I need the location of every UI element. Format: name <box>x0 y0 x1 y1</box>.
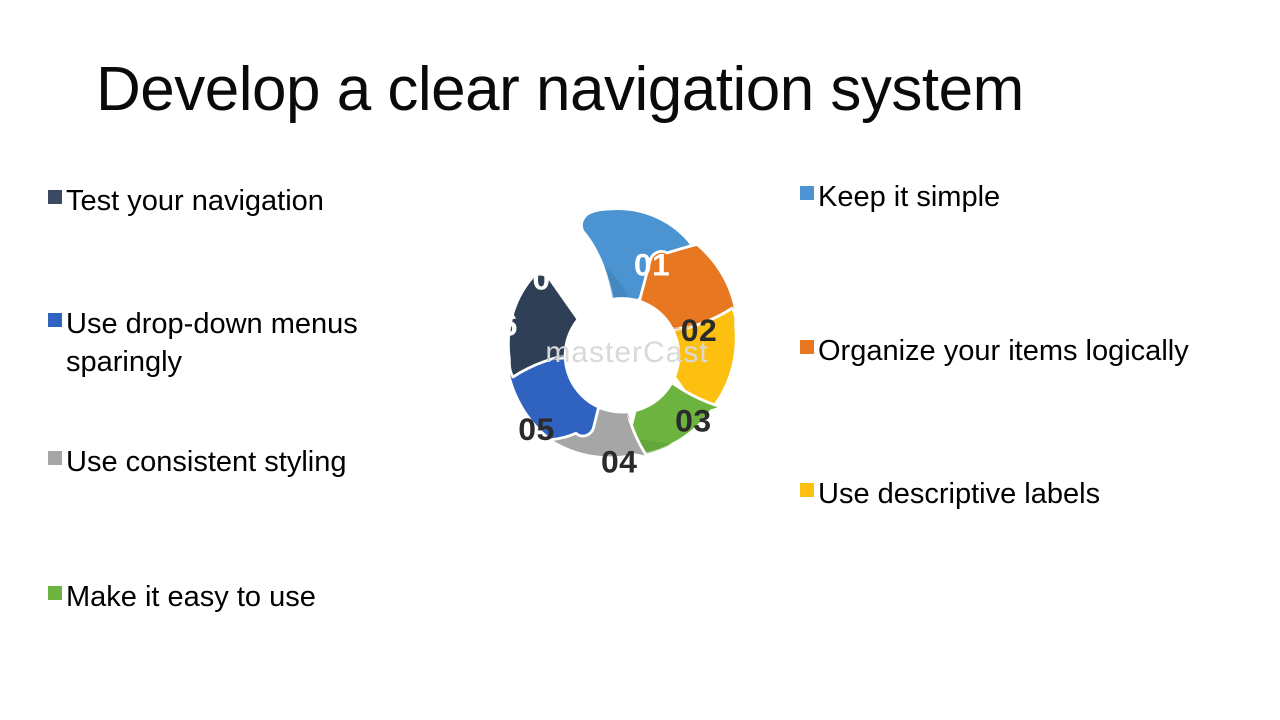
list-item-label: Use drop-down menus sparingly <box>66 305 446 381</box>
petal-number-07: 07 <box>532 261 568 297</box>
list-item[interactable]: Organize your items logically <box>800 332 1189 370</box>
list-item[interactable]: Test your navigation <box>48 182 324 220</box>
pinwheel-diagram: 01020304050607 <box>447 190 797 530</box>
slide-canvas: Develop a clear navigation system Test y… <box>0 0 1280 720</box>
petal-number-06: 06 <box>482 307 518 343</box>
list-item[interactable]: Keep it simple <box>800 178 1000 216</box>
list-item[interactable]: Make it easy to use <box>48 578 316 616</box>
list-item-label: Test your navigation <box>66 182 324 220</box>
list-item-label: Make it easy to use <box>66 578 316 616</box>
petal-number-03: 03 <box>675 402 711 438</box>
bullet-square-icon <box>800 186 814 200</box>
pinwheel-svg: 01020304050607 <box>447 190 797 530</box>
bullet-square-icon <box>48 313 62 327</box>
bullet-square-icon <box>48 451 62 465</box>
bullet-square-icon <box>48 190 62 204</box>
bullet-square-icon <box>800 340 814 354</box>
petal-number-05: 05 <box>518 411 554 447</box>
list-item-label: Use consistent styling <box>66 443 346 481</box>
list-item[interactable]: Use drop-down menus sparingly <box>48 305 446 381</box>
petal-number-02: 02 <box>681 312 717 348</box>
list-item-label: Keep it simple <box>818 178 1000 216</box>
petal-number-04: 04 <box>601 444 637 480</box>
bullet-square-icon <box>800 483 814 497</box>
list-item[interactable]: Use descriptive labels <box>800 475 1100 513</box>
petal-number-01: 01 <box>634 246 670 282</box>
list-item-label: Organize your items logically <box>818 332 1189 370</box>
list-item-label: Use descriptive labels <box>818 475 1100 513</box>
list-item[interactable]: Use consistent styling <box>48 443 346 481</box>
pinwheel-center-hole <box>564 297 680 413</box>
page-title: Develop a clear navigation system <box>96 50 1186 130</box>
bullet-square-icon <box>48 586 62 600</box>
